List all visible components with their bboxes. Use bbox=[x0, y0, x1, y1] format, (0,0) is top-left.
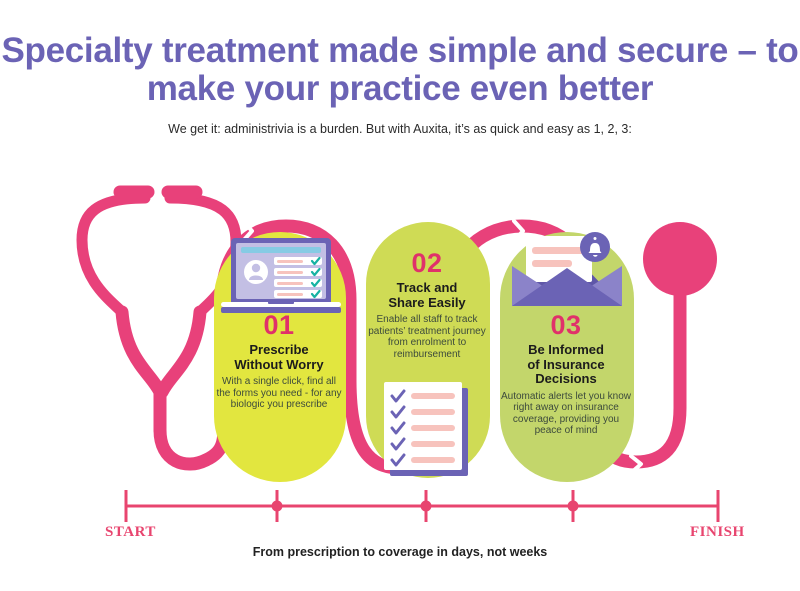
card-1-caption-line: Prescribe bbox=[214, 343, 344, 358]
card-1-description: With a single click, find all the forms … bbox=[214, 376, 344, 411]
timeline bbox=[126, 490, 718, 522]
checklist-clipboard-icon bbox=[384, 382, 468, 476]
card-1-number: 01 bbox=[214, 310, 344, 340]
timeline-start-label: START bbox=[105, 524, 156, 541]
card-2-caption-line: Track and bbox=[366, 281, 488, 296]
bell-icon bbox=[580, 232, 610, 262]
card-2-number: 02 bbox=[366, 248, 488, 278]
card-1-caption: Prescribe Without Worry bbox=[214, 343, 344, 372]
timeline-caption: From prescription to coverage in days, n… bbox=[0, 545, 800, 559]
stethoscope-chestpiece-icon bbox=[643, 222, 717, 296]
timeline-marker bbox=[421, 490, 432, 522]
card-3-text: 03 Be Informed of Insurance Decisions Au… bbox=[500, 310, 632, 437]
card-3-caption: Be Informed of Insurance Decisions bbox=[500, 343, 632, 387]
timeline-finish-label: FINISH bbox=[690, 524, 745, 541]
card-3-description: Automatic alerts let you know right away… bbox=[500, 391, 632, 437]
card-2-caption-line: Share Easily bbox=[366, 296, 488, 311]
card-3-number: 03 bbox=[500, 310, 632, 340]
card-2-caption: Track and Share Easily bbox=[366, 281, 488, 310]
card-2-description: Enable all staff to track patients’ trea… bbox=[366, 314, 488, 360]
card-1-caption-line: Without Worry bbox=[214, 358, 344, 373]
infographic-canvas: Specialty treatment made simple and secu… bbox=[0, 0, 800, 591]
timeline-marker bbox=[568, 490, 579, 522]
card-3-caption-line: of Insurance bbox=[500, 358, 632, 373]
timeline-marker bbox=[272, 490, 283, 522]
card-3-caption-line: Be Informed bbox=[500, 343, 632, 358]
card-1-text: 01 Prescribe Without Worry With a single… bbox=[214, 310, 344, 411]
card-3-caption-line: Decisions bbox=[500, 372, 632, 387]
laptop-forms-icon bbox=[221, 238, 341, 313]
card-2-text: 02 Track and Share Easily Enable all sta… bbox=[366, 248, 488, 360]
